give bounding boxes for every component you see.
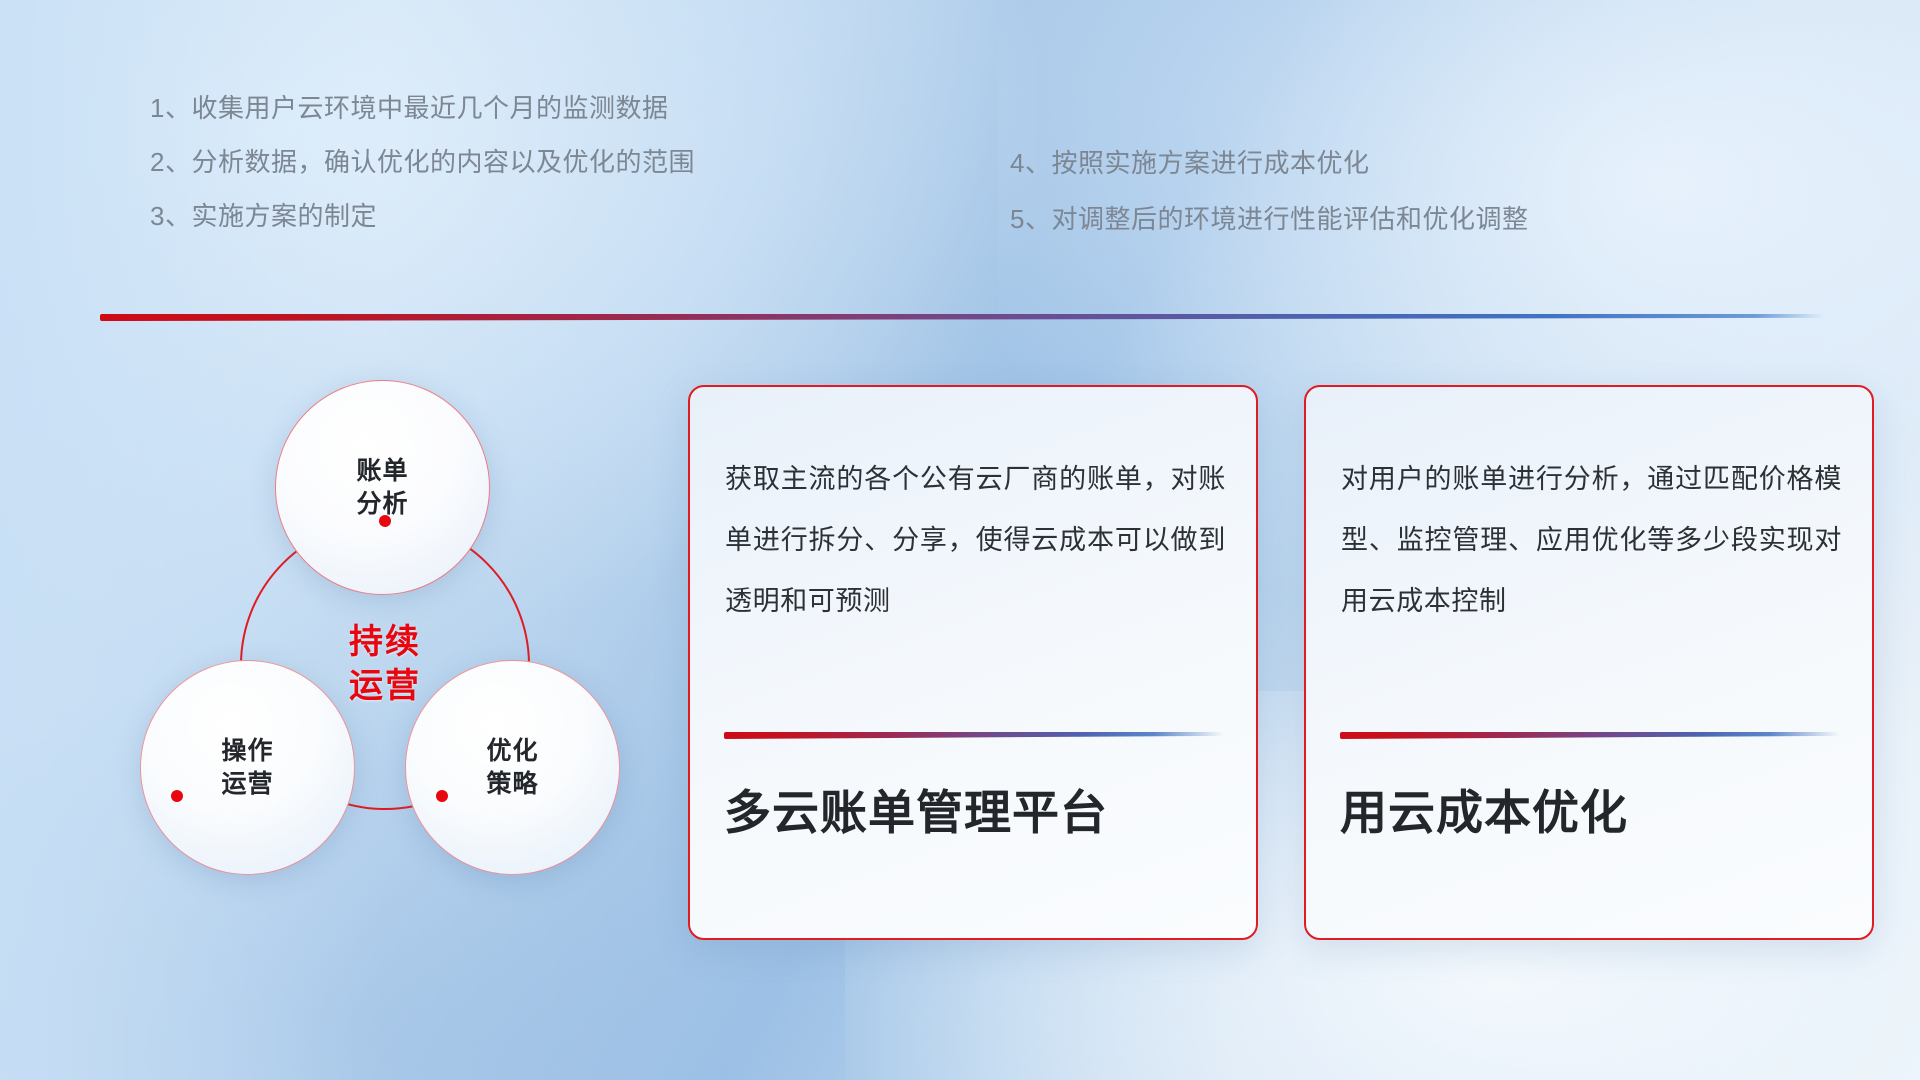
slide-canvas: 1、收集用户云环境中最近几个月的监测数据 2、分析数据，确认优化的内容以及优化的…	[0, 0, 1920, 1080]
node-label-line1: 优化	[406, 735, 619, 768]
diagram-center-label: 持续 运营	[349, 621, 421, 708]
step-item-2: 2、分析数据，确认优化的内容以及优化的范围	[150, 149, 695, 175]
connector-dot-bottom-right	[436, 790, 448, 802]
step-item-5: 5、对调整后的环境进行性能评估和优化调整	[1010, 206, 1528, 232]
step-item-1: 1、收集用户云环境中最近几个月的监测数据	[150, 95, 695, 121]
node-label-line1: 操作	[141, 735, 354, 768]
connector-dot-top	[379, 515, 391, 527]
card-divider	[724, 732, 1224, 739]
node-operations[interactable]: 操作 运营	[140, 660, 355, 875]
connector-dot-bottom-left	[171, 790, 183, 802]
node-label-line1: 账单	[276, 455, 489, 488]
node-optimization-strategy[interactable]: 优化 策略	[405, 660, 620, 875]
node-billing-analysis-label: 账单 分析	[276, 455, 489, 521]
card-divider	[1340, 732, 1840, 739]
diagram-center-label-line2: 运营	[349, 665, 421, 709]
steps-right-column: 4、按照实施方案进行成本优化 5、对调整后的环境进行性能评估和优化调整	[1010, 150, 1528, 262]
step-item-3: 3、实施方案的制定	[150, 203, 695, 229]
steps-left-column: 1、收集用户云环境中最近几个月的监测数据 2、分析数据，确认优化的内容以及优化的…	[150, 95, 695, 257]
card-cloud-cost-optimization[interactable]: 对用户的账单进行分析，通过匹配价格模型、监控管理、应用优化等多少段实现对用云成本…	[1304, 385, 1874, 940]
card-title: 用云成本优化	[1340, 785, 1848, 841]
node-billing-analysis[interactable]: 账单 分析	[275, 380, 490, 595]
continuous-operation-diagram: 持续 运营 账单 分析 操作 运营 优化 策略	[100, 360, 620, 920]
card-body-text: 获取主流的各个公有云厂商的账单，对账单进行拆分、分享，使得云成本可以做到透明和可…	[725, 449, 1226, 631]
card-title: 多云账单管理平台	[724, 785, 1232, 841]
card-body-text: 对用户的账单进行分析，通过匹配价格模型、监控管理、应用优化等多少段实现对用云成本…	[1341, 449, 1842, 631]
step-item-4: 4、按照实施方案进行成本优化	[1010, 150, 1528, 176]
card-multi-cloud-billing-platform[interactable]: 获取主流的各个公有云厂商的账单，对账单进行拆分、分享，使得云成本可以做到透明和可…	[688, 385, 1258, 940]
diagram-center-label-line1: 持续	[349, 621, 421, 665]
